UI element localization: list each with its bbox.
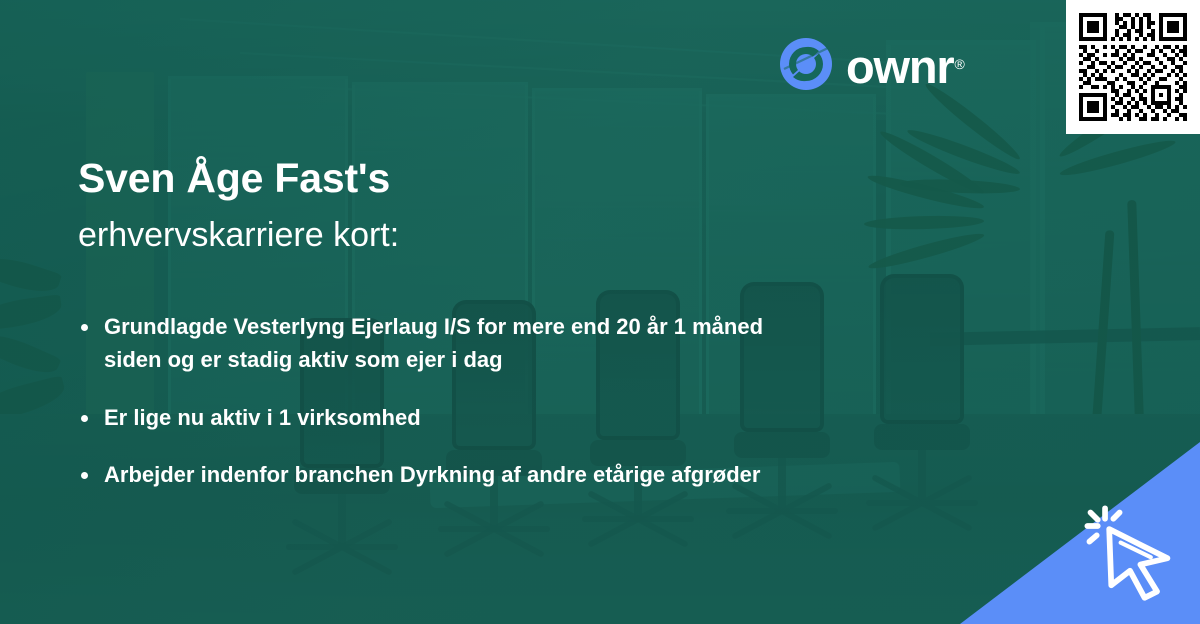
list-item: Grundlagde Vesterlyng Ejerlaug I/S for m… [78,310,804,377]
registered-trademark-icon: ® [954,56,963,72]
qr-code-panel[interactable] [1066,0,1200,134]
click-cursor-icon [1078,500,1182,604]
list-item-text: Arbejder indenfor branchen Dyrkning af a… [104,462,760,487]
ownr-circular-logo-icon [778,36,834,92]
list-item: Er lige nu aktiv i 1 virksomhed [78,401,978,434]
qr-code-icon [1075,9,1191,125]
business-card-banner: ownr® [0,0,1200,624]
bullet-dot-icon [81,415,88,422]
career-summary-list: Grundlagde Vesterlyng Ejerlaug I/S for m… [78,310,978,492]
list-item-text: Grundlagde Vesterlyng Ejerlaug I/S for m… [104,314,763,372]
bullet-dot-icon [81,472,88,479]
page-subtitle: erhvervskarriere kort: [78,213,399,257]
ownr-wordmark: ownr® [846,43,963,90]
bullet-dot-icon [81,324,88,331]
list-item: Arbejder indenfor branchen Dyrkning af a… [78,458,978,491]
ownr-wordmark-text: ownr [846,40,953,93]
ownr-logo[interactable]: ownr® [778,36,963,92]
page-title: Sven Åge Fast's [78,155,399,203]
page-title-block: Sven Åge Fast's erhvervskarriere kort: [78,155,399,257]
list-item-text: Er lige nu aktiv i 1 virksomhed [104,405,421,430]
